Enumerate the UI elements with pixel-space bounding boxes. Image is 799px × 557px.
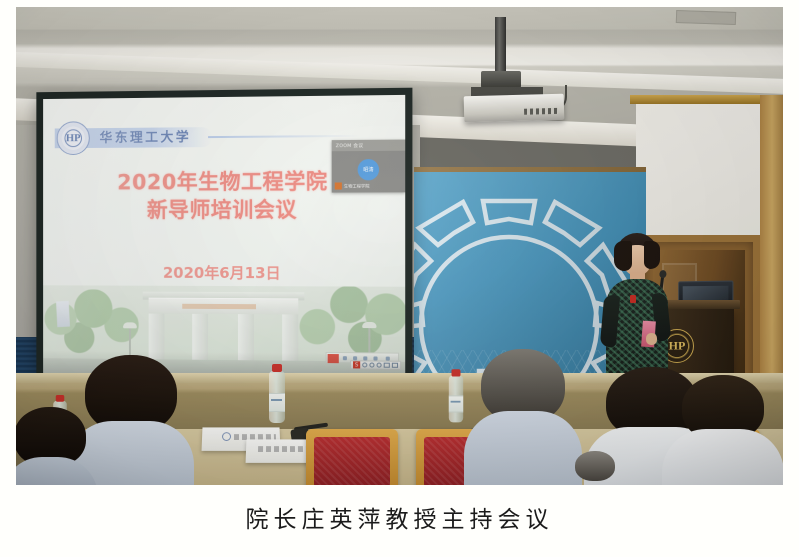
audience-shoulders xyxy=(464,411,582,485)
meeting-photograph: HP 华东理工大学 2020年生物工程学院 新导师培训会议 2020年6月13日 xyxy=(16,7,783,485)
audience-member xyxy=(16,407,98,485)
bottle-cap xyxy=(452,369,461,376)
speaker-hand xyxy=(646,333,657,345)
gate-flag xyxy=(56,301,70,327)
ceiling-vent xyxy=(676,10,736,25)
bottle-label xyxy=(449,395,463,412)
presentation-slide: HP 华东理工大学 2020年生物工程学院 新导师培训会议 2020年6月13日 xyxy=(43,95,405,380)
water-bottle xyxy=(269,371,285,423)
speaker-hair-right xyxy=(644,241,660,269)
projection-screen-frame: HP 华东理工大学 2020年生物工程学院 新导师培训会议 2020年6月13日 xyxy=(36,88,412,388)
audience-member xyxy=(662,375,783,485)
name-card-logo-icon xyxy=(222,432,231,441)
bottle-label xyxy=(269,393,285,412)
audience-chair xyxy=(306,429,398,485)
university-name: 华东理工大学 xyxy=(100,126,192,146)
chair-frame xyxy=(306,429,398,485)
zoom-window-titlebar: ZOOM 会议 xyxy=(332,140,406,152)
water-bottle xyxy=(449,376,463,423)
bottle-cap xyxy=(56,395,65,402)
door-side-trim xyxy=(760,95,783,415)
zoom-meeting-window[interactable]: ZOOM 会议 昭涛 生物工程学院 xyxy=(332,140,406,193)
bottle-cap xyxy=(272,364,282,372)
audience-shoulders xyxy=(662,429,783,485)
university-logo-icon: HP xyxy=(57,121,90,155)
audience-head xyxy=(575,451,615,481)
audience-member xyxy=(572,451,618,485)
slide-date: 2020年6月13日 xyxy=(43,262,405,284)
audience-shoulders xyxy=(16,457,98,485)
zoom-participant-avatar: 昭涛 xyxy=(358,159,379,180)
photo-caption: 院长庄英萍教授主持会议 xyxy=(0,500,799,534)
zoom-participant-strip: 生物工程学院 xyxy=(335,182,370,189)
audience-member xyxy=(464,349,582,485)
gate-lintel xyxy=(149,298,299,315)
zoom-participant-name: 生物工程学院 xyxy=(344,183,370,189)
speaker-hair-left xyxy=(614,241,632,271)
slide-title-line2: 新导师培训会议 xyxy=(43,196,405,225)
screenshot-canvas: HP 华东理工大学 2020年生物工程学院 新导师培训会议 2020年6月13日 xyxy=(0,0,799,557)
projector-mount-pole xyxy=(495,17,506,75)
slide-header-tail xyxy=(208,135,359,138)
university-logo-mark: HP xyxy=(66,132,81,144)
ceiling-projector xyxy=(464,94,565,123)
zoom-participant-thumbnail xyxy=(335,182,342,189)
speaker-badge xyxy=(630,295,636,303)
projection-screen: HP 华东理工大学 2020年生物工程学院 新导师培训会议 2020年6月13日 xyxy=(43,95,405,380)
projector-mount-bracket xyxy=(481,71,521,88)
chair-cushion xyxy=(314,437,390,485)
